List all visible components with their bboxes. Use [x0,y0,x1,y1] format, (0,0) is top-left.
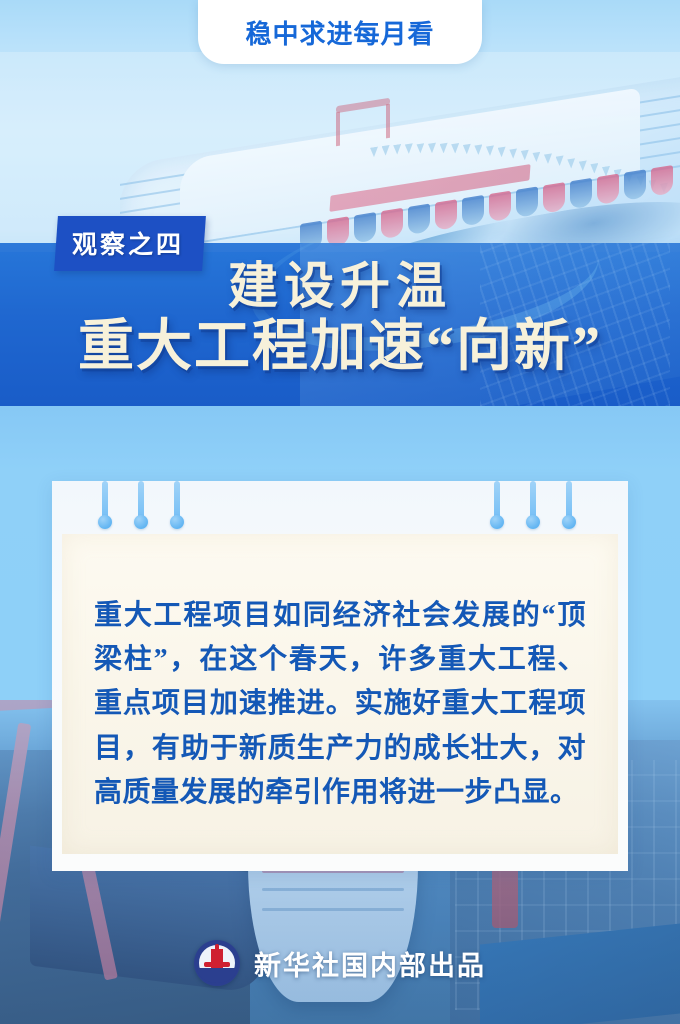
card-pins-left [98,481,184,533]
xinhua-logo-icon [194,940,240,986]
card-pin [98,481,112,533]
content-card-body: 重大工程项目如同经济社会发展的“顶梁柱”，在这个春天，许多重大工程、重点项目加速… [94,566,586,843]
headline-line-1: 建设升温 [0,258,680,314]
card-pin [526,481,540,533]
footer: 新华社国内部出品 [0,940,680,986]
footer-credit-label: 新华社国内部出品 [254,944,486,983]
poster-root: 稳中求进每月看 观察之四 建设升温 重大工程加速“向新” 重大工程项目如同经济社… [0,0,680,1024]
card-pin [170,481,184,533]
header-badge-label: 稳中求进每月看 [245,19,434,49]
card-pin [134,481,148,533]
header-badge[interactable]: 稳中求进每月看 [198,0,482,64]
headline-line-2: 重大工程加速“向新” [0,316,680,379]
card-pins-right [490,481,576,533]
headline: 建设升温 重大工程加速“向新” [0,258,680,379]
summary-paragraph: 重大工程项目如同经济社会发展的“顶梁柱”，在这个春天，许多重大工程、重点项目加速… [94,594,586,815]
card-pin [562,481,576,533]
series-tag-label: 观察之四 [72,225,184,261]
card-pin [490,481,504,533]
